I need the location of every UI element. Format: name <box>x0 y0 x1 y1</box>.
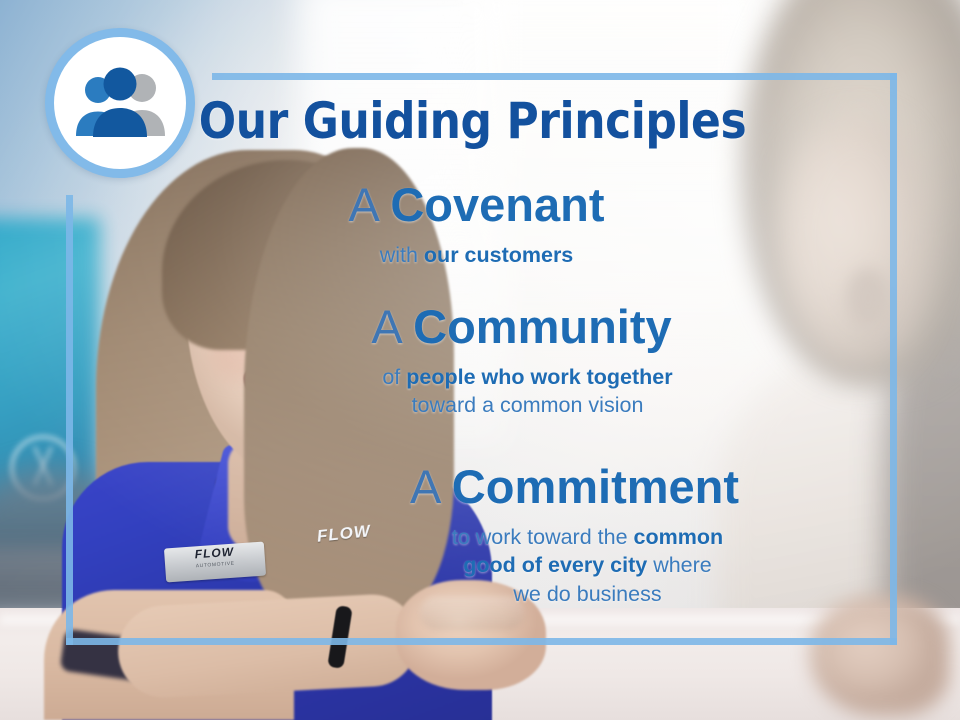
principle-lead-word: A <box>371 300 413 353</box>
principle-title-community: A Community <box>66 301 897 354</box>
subtext-emphasis: our customers <box>424 243 573 267</box>
principle-keyword: Community <box>413 300 672 353</box>
page-title: Our Guiding Principles <box>115 95 830 147</box>
subtext-emphasis: common <box>634 525 724 549</box>
principle-subtext-commitment: to work toward the common good of every … <box>66 523 897 609</box>
principle-subtext-line-2: good of every city where <box>278 551 897 580</box>
principle-subtext-line-1: with our customers <box>66 241 887 270</box>
principle-keyword: Commitment <box>452 460 739 513</box>
principle-lead-word: A <box>410 460 452 513</box>
subtext-plain: where <box>647 553 712 577</box>
principle-title-covenant: A Covenant <box>66 179 897 232</box>
subtext-emphasis: people who work together <box>406 365 672 389</box>
principle-subtext-line-1: of people who work together <box>158 363 897 392</box>
poster-canvas: FLOW AUTOMOTIVE FLOW <box>0 0 960 720</box>
principle-block-commitment: A Commitment to work toward the common g… <box>66 461 897 609</box>
principle-block-community: A Community of people who work together … <box>66 301 897 420</box>
principle-subtext-covenant: with our customers <box>66 241 897 270</box>
principle-keyword: Covenant <box>390 178 604 231</box>
principle-subtext-community: of people who work together toward a com… <box>66 363 897 421</box>
poster-text-content: Our Guiding Principles A Covenant with o… <box>66 73 897 645</box>
principle-lead-word: A <box>349 178 391 231</box>
subtext-plain: to work toward the <box>452 525 634 549</box>
subtext-plain: with <box>380 243 424 267</box>
principle-block-covenant: A Covenant with our customers <box>66 179 897 269</box>
subtext-plain: of <box>382 365 406 389</box>
principle-subtext-line-1: to work toward the common <box>278 523 897 552</box>
principle-subtext-line-3: we do business <box>278 580 897 609</box>
principle-subtext-line-2: toward a common vision <box>158 391 897 420</box>
principle-title-commitment: A Commitment <box>66 461 897 514</box>
subtext-emphasis: good of every city <box>463 553 647 577</box>
